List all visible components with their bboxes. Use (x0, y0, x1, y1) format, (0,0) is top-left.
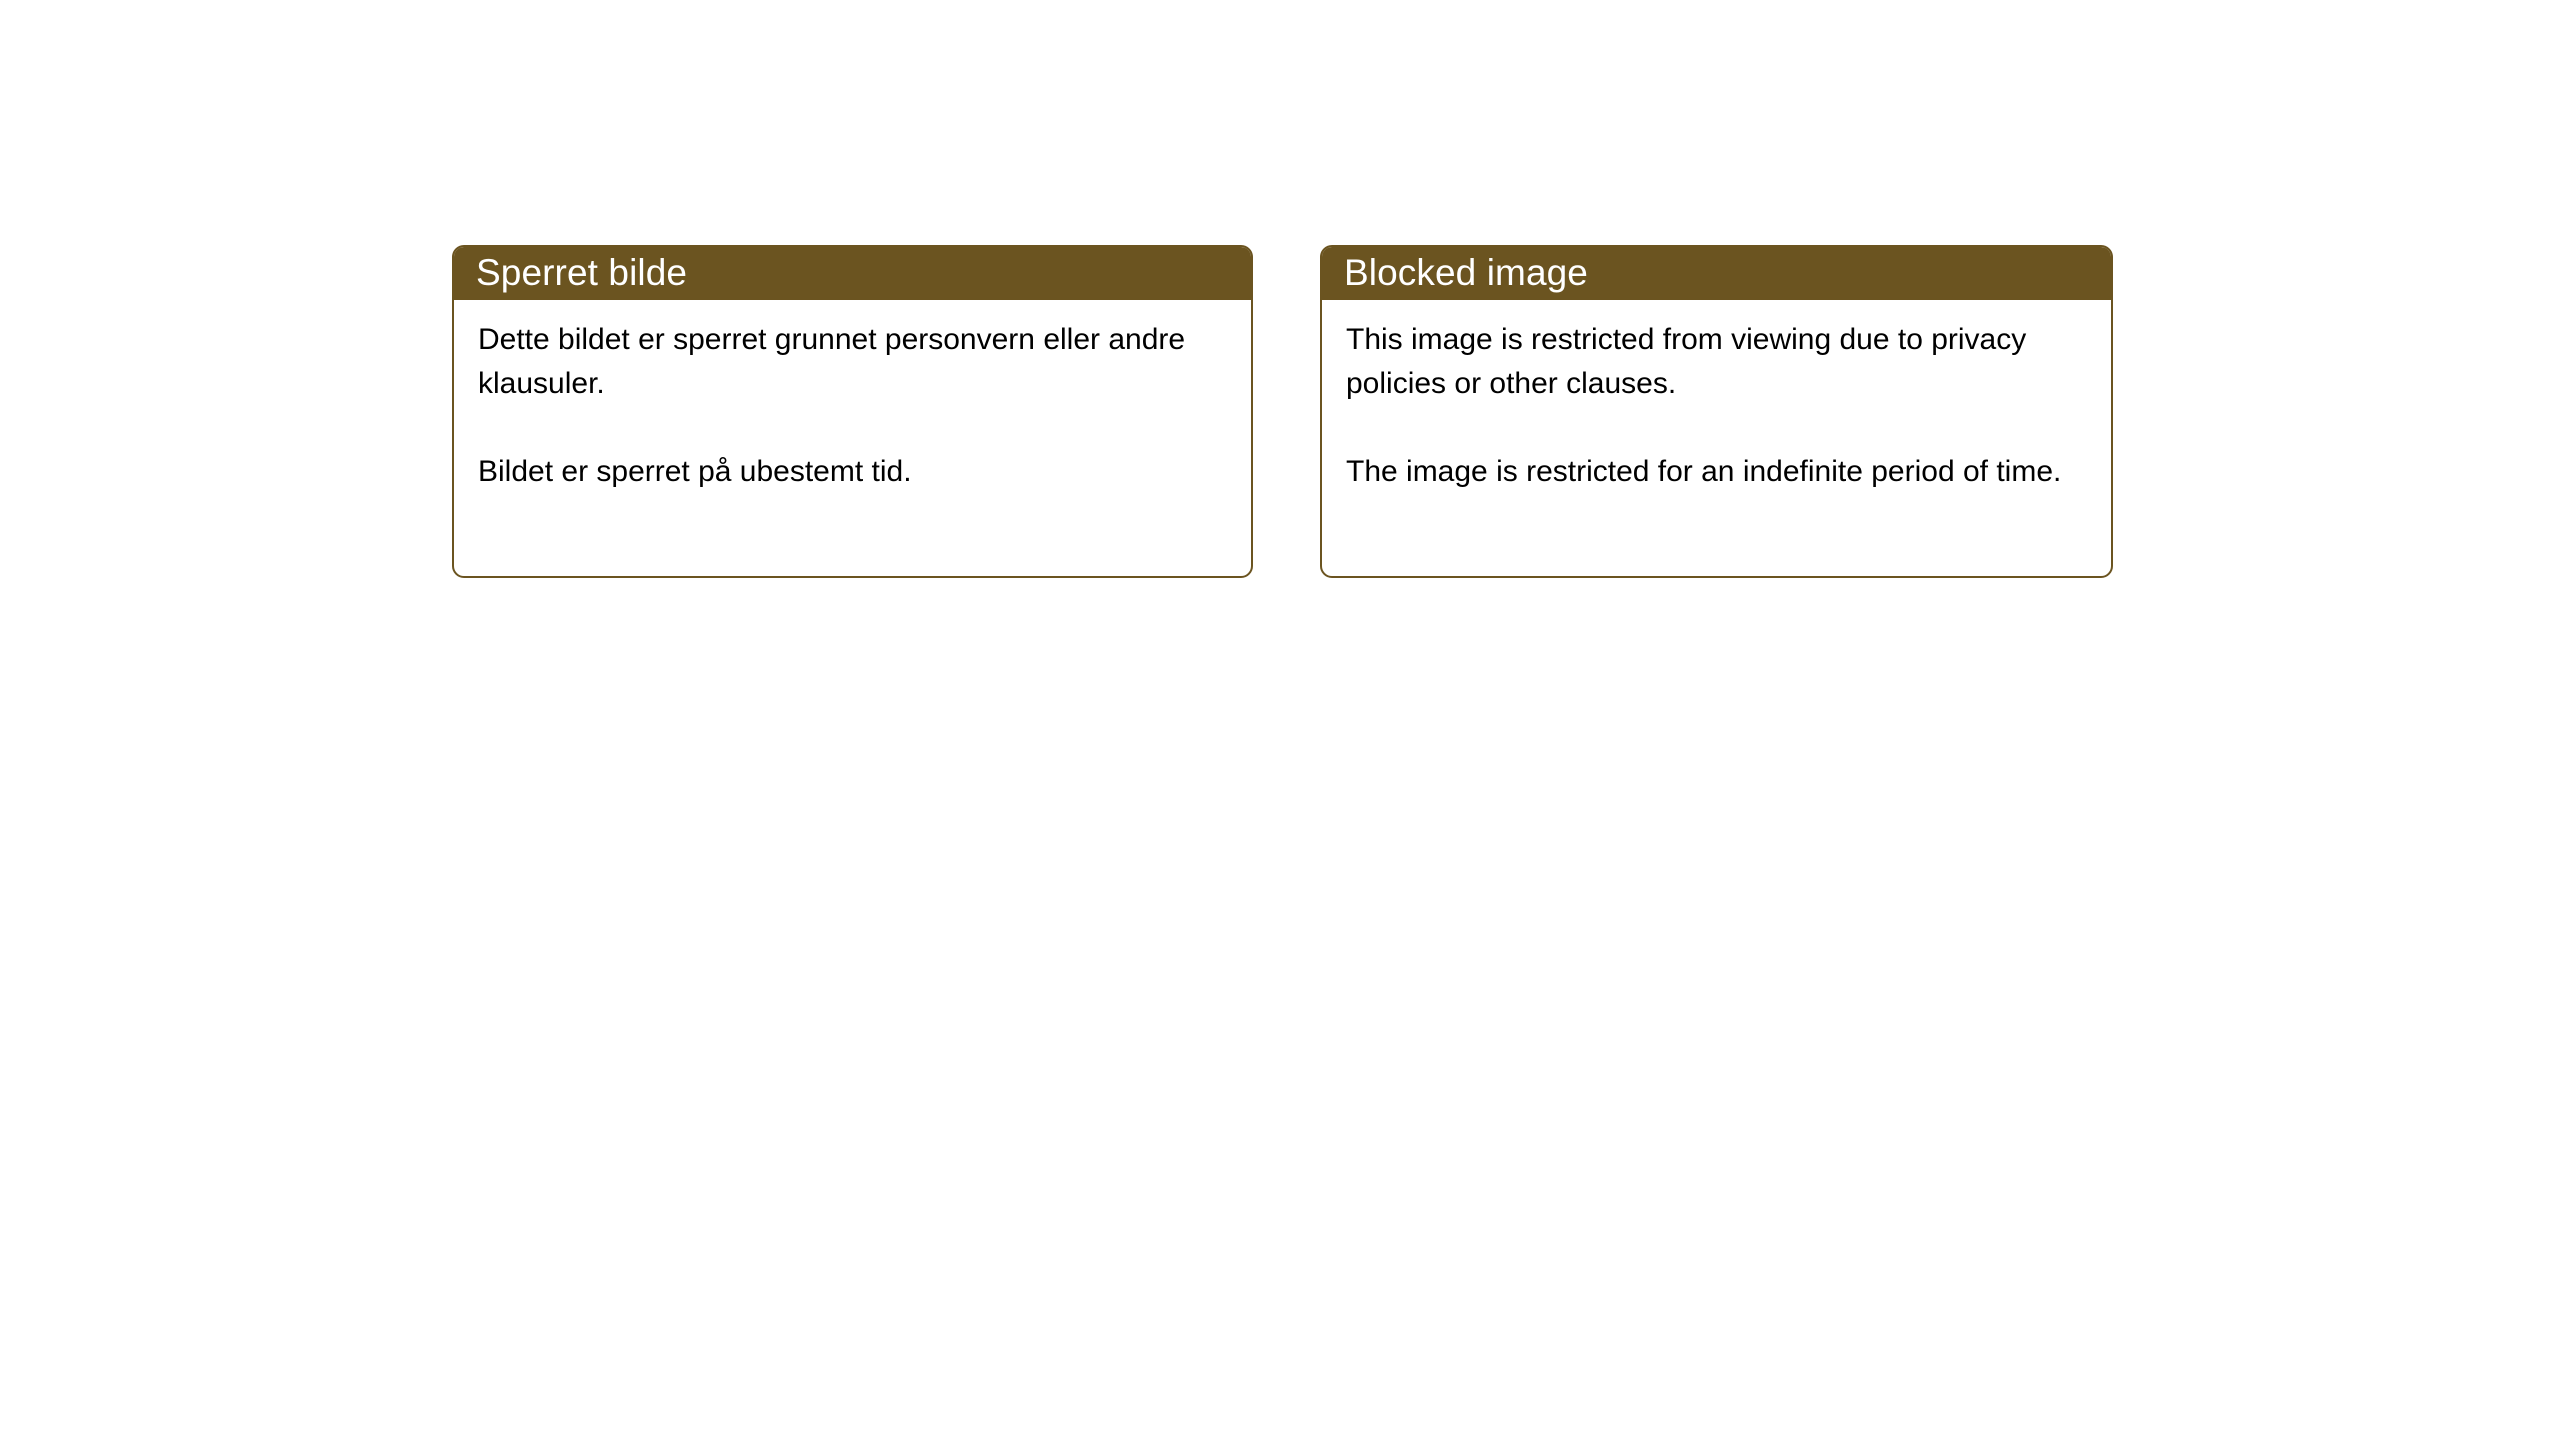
blocked-image-notice-card-no: Sperret bilde Dette bildet er sperret gr… (452, 245, 1253, 578)
notice-paragraph-duration-en: The image is restricted for an indefinit… (1346, 450, 2087, 494)
notice-card-body-en: This image is restricted from viewing du… (1322, 300, 2111, 494)
notice-card-title-no: Sperret bilde (476, 254, 687, 291)
notice-card-title-en: Blocked image (1344, 254, 1588, 291)
notice-card-header-en: Blocked image (1320, 245, 2113, 300)
notice-paragraph-duration-no: Bildet er sperret på ubestemt tid. (478, 450, 1227, 494)
page-canvas: Sperret bilde Dette bildet er sperret gr… (0, 0, 2560, 1440)
notice-card-header-no: Sperret bilde (452, 245, 1253, 300)
notice-paragraph-privacy-no: Dette bildet er sperret grunnet personve… (478, 318, 1227, 406)
notice-card-body-no: Dette bildet er sperret grunnet personve… (454, 300, 1251, 494)
notice-paragraph-privacy-en: This image is restricted from viewing du… (1346, 318, 2087, 406)
blocked-image-notice-card-en: Blocked image This image is restricted f… (1320, 245, 2113, 578)
